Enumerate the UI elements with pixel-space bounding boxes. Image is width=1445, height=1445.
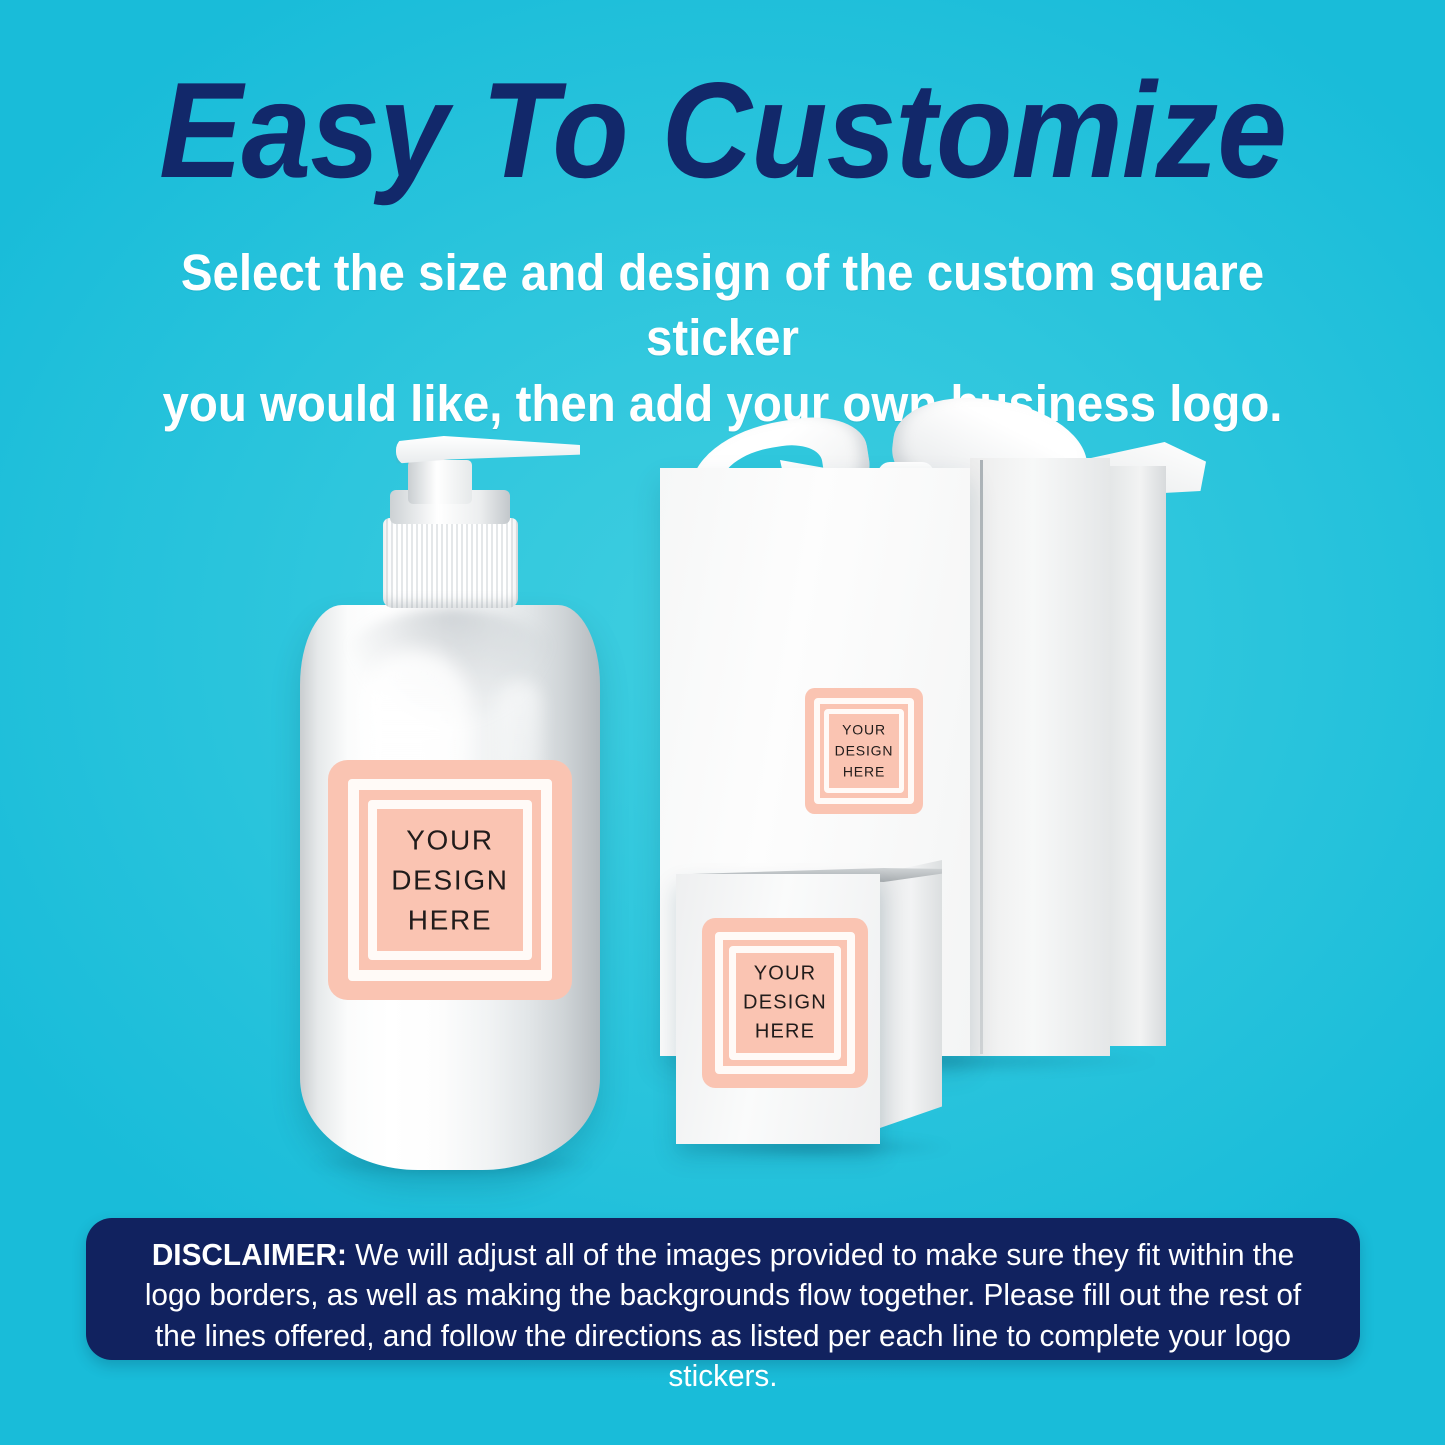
sticker-line-3: HERE [805,762,923,783]
sticker-line-2: DESIGN [805,741,923,762]
promo-graphic: Easy To Customize Select the size and de… [0,0,1445,1445]
sticker-line-2: DESIGN [328,860,572,900]
sticker-line-1: YOUR [328,820,572,860]
pump-collar-icon [383,518,518,608]
sticker-text: YOUR DESIGN HERE [702,960,868,1047]
gift-box-back-panel [1102,466,1166,1046]
sticker-line-1: YOUR [805,720,923,741]
pump-bottle-mockup: YOUR DESIGN HERE [300,430,600,1170]
sticker-line-3: HERE [702,1018,868,1047]
page-title: Easy To Customize [58,62,1387,198]
sticker-text: YOUR DESIGN HERE [805,720,923,783]
small-box-sticker: YOUR DESIGN HERE [702,918,868,1088]
disclaimer-label: DISCLAIMER: [152,1237,347,1272]
disclaimer-text: DISCLAIMER: We will adjust all of the im… [142,1235,1304,1396]
sticker-text: YOUR DESIGN HERE [328,820,572,939]
sticker-line-3: HERE [328,900,572,940]
gift-box-side-panel [970,458,1110,1056]
small-box-side-panel [880,860,942,1128]
gift-box-edge-crease [980,460,983,1054]
bottle-sticker: YOUR DESIGN HERE [328,760,572,1000]
sticker-line-1: YOUR [702,960,868,989]
small-box-mockup: YOUR DESIGN HERE [676,860,956,1160]
disclaimer-banner: DISCLAIMER: We will adjust all of the im… [86,1218,1360,1360]
sticker-line-2: DESIGN [702,989,868,1018]
pump-stem [408,460,472,504]
subtitle-line-1: Select the size and design of the custom… [153,240,1292,371]
gift-box-sticker: YOUR DESIGN HERE [805,688,923,814]
